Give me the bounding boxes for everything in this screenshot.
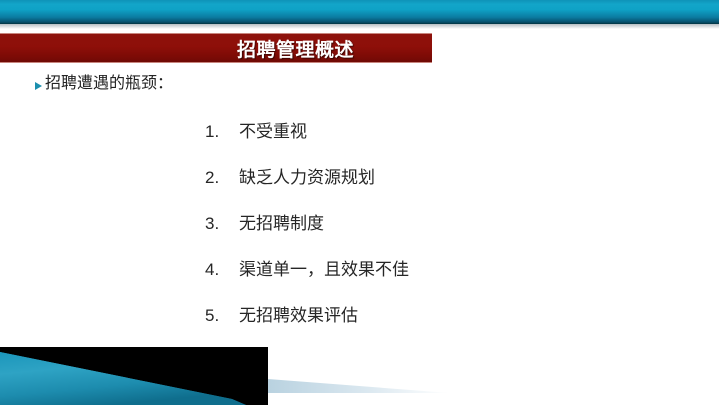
list-item-label: 缺乏人力资源规划 [239, 163, 375, 188]
page-title: 招聘管理概述 [237, 35, 432, 62]
list-item: 4. 渠道单一，且效果不佳 [0, 255, 719, 280]
list-item: 2. 缺乏人力资源规划 [0, 163, 719, 188]
list-item-index: 5. [205, 306, 239, 326]
light-blue-sliver-shape [268, 379, 450, 393]
list-item-label: 渠道单一，且效果不佳 [239, 255, 409, 280]
list-item-label: 无招聘制度 [239, 209, 324, 234]
teal-wedge-shape [0, 352, 246, 405]
teal-wedge-shape-lower [0, 352, 246, 405]
list-item: 5. 无招聘效果评估 [0, 301, 719, 326]
bullet-text: 招聘遭遇的瓶颈： [45, 72, 173, 96]
list-item: 1. 不受重视 [0, 117, 719, 142]
teal-gradient-band [0, 0, 719, 24]
bullet-row: 招聘遭遇的瓶颈： [0, 72, 719, 96]
black-wedge-shape [0, 347, 268, 405]
top-band-shadow [0, 24, 719, 29]
list-item-index: 2. [205, 168, 239, 188]
numbered-list: 1. 不受重视 2. 缺乏人力资源规划 3. 无招聘制度 4. 渠道单一，且效果… [0, 117, 719, 326]
list-item-index: 4. [205, 260, 239, 280]
bottom-decoration [0, 343, 719, 405]
triangle-bullet-icon [34, 79, 43, 93]
list-item-label: 无招聘效果评估 [239, 301, 358, 326]
list-item-index: 1. [205, 122, 239, 142]
list-item-label: 不受重视 [239, 117, 307, 142]
slide-title-bar: 招聘管理概述 [0, 33, 432, 63]
slide-canvas: 招聘管理概述 招聘遭遇的瓶颈： 1. 不受重视 2. 缺乏人力资源规划 3. 无… [0, 0, 719, 405]
slide-content: 招聘遭遇的瓶颈： 1. 不受重视 2. 缺乏人力资源规划 3. 无招聘制度 4.… [0, 72, 719, 326]
list-item-index: 3. [205, 214, 239, 234]
list-item: 3. 无招聘制度 [0, 209, 719, 234]
